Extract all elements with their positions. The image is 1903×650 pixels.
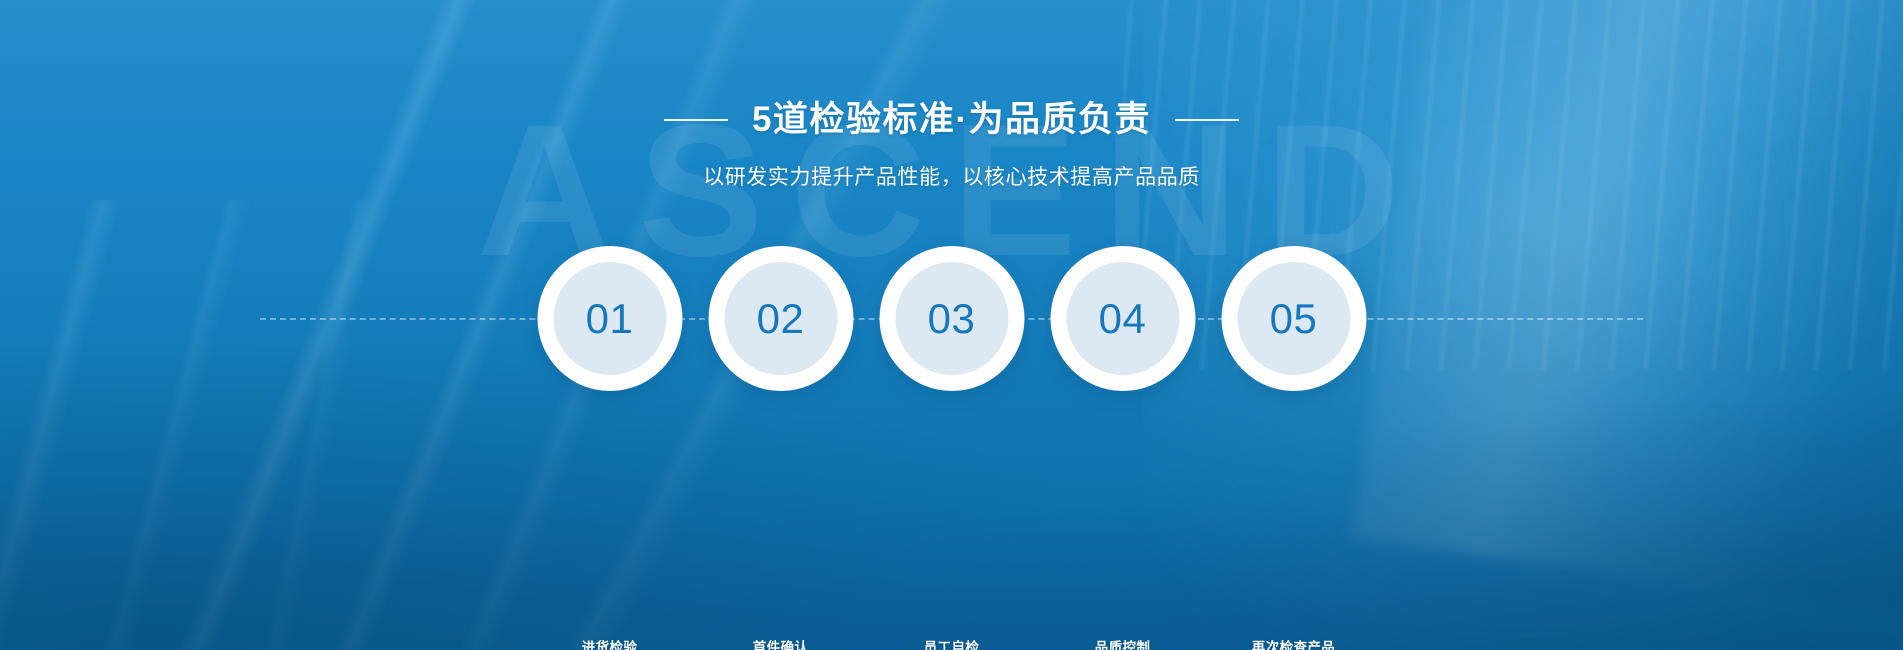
step-bubble-03[interactable]: 03 (879, 246, 1024, 391)
step-bubble-05[interactable]: 05 (1221, 246, 1366, 391)
page-title: 5道检验标准·为品质负责 (752, 99, 1151, 141)
step-number-04: 04 (1099, 298, 1147, 340)
step-caption-04: 品质控制 合格方可成品入库 (1050, 638, 1195, 650)
step-number-03: 03 (928, 298, 976, 340)
step-number-02: 02 (757, 298, 805, 340)
process-steps-section: 01 02 03 (0, 246, 1903, 476)
step-caption-02: 首件确认 无误方可进入下一环节 (708, 638, 853, 650)
step-bubble-02[interactable]: 02 (708, 246, 853, 391)
step-item-05[interactable]: 05 (1221, 246, 1366, 391)
step-bubble-04[interactable]: 04 (1050, 246, 1195, 391)
step-caption-01: 进货检验 合格才能收货 (537, 638, 682, 650)
step-number-05: 05 (1270, 298, 1318, 340)
step-number-01: 01 (586, 298, 634, 340)
step-item-04[interactable]: 04 (1050, 246, 1195, 391)
step-bubble-inner-04: 04 (1066, 262, 1179, 375)
step-bubble-inner-05: 05 (1237, 262, 1350, 375)
title-rule-right-icon (1175, 119, 1239, 121)
step-item-01[interactable]: 01 (537, 246, 682, 391)
step-bubble-inner-03: 03 (895, 262, 1008, 375)
step-bubble-inner-01: 01 (553, 262, 666, 375)
step-caption-title-03: 员工自检 (879, 638, 1024, 650)
title-rule-left-icon (664, 119, 728, 121)
step-bubble-inner-02: 02 (724, 262, 837, 375)
step-caption-title-01: 进货检验 (537, 638, 682, 650)
step-caption-title-04: 品质控制 (1050, 638, 1195, 650)
page-subtitle: 以研发实力提升产品性能，以核心技术提高产品品质 (0, 161, 1903, 191)
banner-header: 5道检验标准·为品质负责 以研发实力提升产品性能，以核心技术提高产品品质 (0, 99, 1903, 191)
step-caption-title-05: 再次检查产品 (1221, 638, 1366, 650)
step-item-03[interactable]: 03 (879, 246, 1024, 391)
step-caption-list: 进货检验 合格才能收货 首件确认 无误方可进入下一环节 员工自检 合格方可进入生… (0, 638, 1903, 650)
step-caption-title-02: 首件确认 (708, 638, 853, 650)
quality-process-banner: ASCEND 5道检验标准·为品质负责 以研发实力提升产品性能，以核心技术提高产… (0, 0, 1903, 650)
step-caption-03: 员工自检 合格方可进入生产环节 (879, 638, 1024, 650)
step-caption-row: 进货检验 合格才能收货 首件确认 无误方可进入下一环节 员工自检 合格方可进入生… (0, 638, 1903, 650)
step-caption-05: 再次检查产品 确保出库产品标准合格 (1221, 638, 1366, 650)
title-row: 5道检验标准·为品质负责 (0, 99, 1903, 141)
step-item-02[interactable]: 02 (708, 246, 853, 391)
step-bubble-list: 01 02 03 (537, 246, 1366, 391)
step-bubble-01[interactable]: 01 (537, 246, 682, 391)
